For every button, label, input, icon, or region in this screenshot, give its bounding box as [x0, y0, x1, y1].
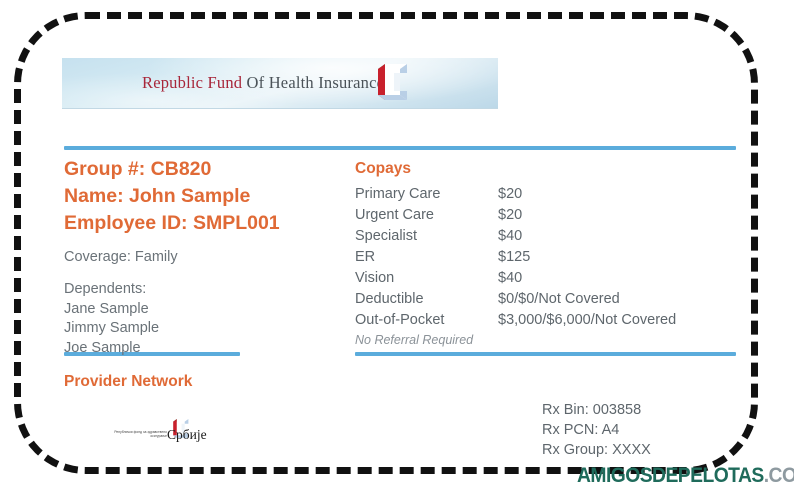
provider-logo-word: Србије: [167, 427, 207, 443]
list-item: Joe Sample: [64, 339, 349, 359]
provider-logo-subtext: Републички фонд за здравствено осигурање: [97, 430, 167, 439]
provider-network-title: Provider Network: [64, 373, 192, 391]
copay-label: Primary Care: [355, 184, 498, 205]
insurance-card: Republic Fund Of Health Insurance Group …: [0, 0, 794, 503]
coverage-type: Coverage: Family: [64, 247, 349, 267]
divider-right-lower: [355, 352, 736, 356]
copays-panel: Copays Primary Care $20 Urgent Care $20 …: [355, 160, 736, 347]
copay-label: ER: [355, 247, 498, 268]
copays-title: Copays: [355, 160, 736, 178]
table-row: Urgent Care $20: [355, 205, 736, 226]
copay-value: $20: [498, 184, 522, 205]
watermark-tld: .COM: [764, 464, 794, 487]
cube-logo-icon: [370, 62, 412, 104]
copay-label: Vision: [355, 268, 498, 289]
copay-label: Urgent Care: [355, 205, 498, 226]
table-row: Deductible $0/$0/Not Covered: [355, 289, 736, 310]
copay-label: Out-of-Pocket: [355, 310, 498, 331]
copay-value: $20: [498, 205, 522, 226]
watermark: AMIGOSDEPELOTAS.COM: [577, 464, 794, 488]
copay-value: $0/$0/Not Covered: [498, 289, 620, 310]
referral-note: No Referral Required: [355, 333, 736, 347]
rx-group: Rx Group: XXXX: [542, 440, 651, 460]
header-banner: Republic Fund Of Health Insurance: [62, 58, 498, 109]
rx-bin: Rx Bin: 003858: [542, 400, 651, 420]
copay-label: Deductible: [355, 289, 498, 310]
divider-top: [64, 146, 736, 150]
dependents-label: Dependents:: [64, 280, 349, 300]
table-row: Out-of-Pocket $3,000/$6,000/Not Covered: [355, 310, 736, 331]
list-item: Jane Sample: [64, 300, 349, 320]
dependents-list: Dependents: Jane Sample Jimmy Sample Joe…: [64, 280, 349, 358]
copay-value: $3,000/$6,000/Not Covered: [498, 310, 676, 331]
copay-value: $40: [498, 268, 522, 289]
rx-info-panel: Rx Bin: 003858 Rx PCN: A4 Rx Group: XXXX: [542, 400, 651, 460]
member-name: Name: John Sample: [64, 183, 349, 210]
rx-pcn: Rx PCN: A4: [542, 420, 651, 440]
table-row: Specialist $40: [355, 226, 736, 247]
copay-value: $125: [498, 247, 530, 268]
group-number: Group #: CB820: [64, 156, 349, 183]
brand-title: Republic Fund Of Health Insurance: [142, 73, 384, 93]
copay-label: Specialist: [355, 226, 498, 247]
table-row: Primary Care $20: [355, 184, 736, 205]
brand-title-secondary: Of Health Insurance: [242, 73, 384, 92]
employee-id: Employee ID: SMPL001: [64, 210, 349, 237]
brand-title-primary: Republic Fund: [142, 73, 242, 92]
list-item: Jimmy Sample: [64, 319, 349, 339]
provider-network-logo: Републички фонд за здравствено осигурање…: [97, 418, 199, 448]
copay-value: $40: [498, 226, 522, 247]
member-info-panel: Group #: CB820 Name: John Sample Employe…: [64, 156, 349, 358]
table-row: ER $125: [355, 247, 736, 268]
table-row: Vision $40: [355, 268, 736, 289]
watermark-main: AMIGOSDEPELOTAS: [577, 464, 764, 487]
